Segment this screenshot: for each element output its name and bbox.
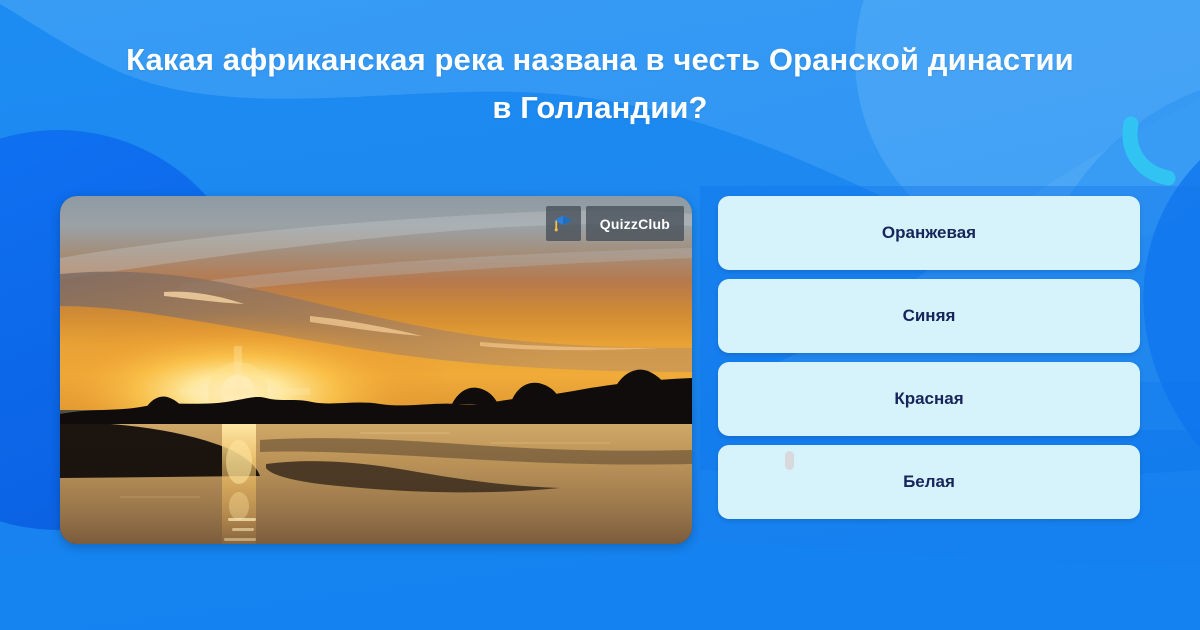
question-title: Какая африканская река названа в честь О…: [120, 36, 1080, 132]
brand-name: QuizzClub: [586, 206, 684, 241]
quiz-card-page: Какая африканская река названа в честь О…: [0, 0, 1200, 630]
answer-option-2[interactable]: Синяя: [718, 279, 1140, 353]
watermark-badge: QuizzClub: [546, 206, 684, 241]
answer-option-4[interactable]: Белая: [718, 445, 1140, 519]
answer-options-list: Оранжевая Синяя Красная Белая: [718, 196, 1140, 519]
question-title-container: Какая африканская река названа в честь О…: [0, 36, 1200, 132]
sunset-river-photo: [60, 196, 692, 544]
answer-option-label: Оранжевая: [882, 223, 976, 243]
graduation-cap-icon: [552, 213, 574, 235]
answer-option-1[interactable]: Оранжевая: [718, 196, 1140, 270]
question-image-card: QuizzClub: [60, 196, 692, 544]
answer-option-3[interactable]: Красная: [718, 362, 1140, 436]
scroll-pill-indicator[interactable]: [785, 451, 794, 470]
brand-logo: [546, 206, 581, 241]
answer-option-label: Белая: [903, 472, 955, 492]
answer-option-label: Синяя: [903, 306, 956, 326]
answer-option-label: Красная: [894, 389, 963, 409]
